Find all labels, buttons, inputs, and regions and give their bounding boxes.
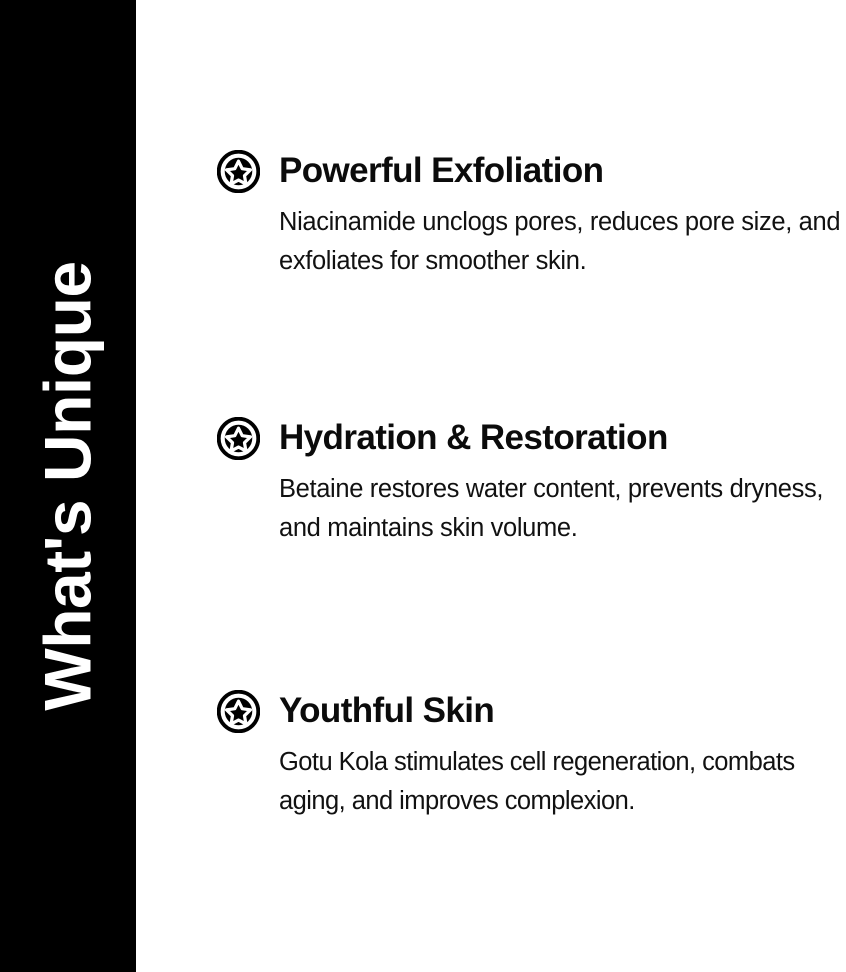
sidebar-vertical-title: What's Unique — [35, 261, 101, 710]
star-badge-icon — [217, 417, 260, 460]
feature-header: Powerful Exfoliation — [217, 150, 842, 193]
star-badge-icon — [217, 690, 260, 733]
star-badge-icon — [217, 150, 260, 193]
feature-title: Youthful Skin — [279, 693, 494, 730]
feature-title: Hydration & Restoration — [279, 420, 668, 457]
feature-description: Betaine restores water content, prevents… — [217, 470, 842, 548]
features-list: Powerful Exfoliation Niacinamide unclogs… — [136, 0, 846, 972]
feature-description: Niacinamide unclogs pores, reduces pore … — [217, 203, 842, 281]
sidebar-panel: What's Unique — [0, 0, 136, 972]
whats-unique-poster: What's Unique Powerful Exfoliation Niaci… — [0, 0, 846, 972]
sidebar-title-container: What's Unique — [0, 0, 136, 972]
feature-item: Hydration & Restoration Betaine restores… — [217, 417, 842, 548]
feature-header: Youthful Skin — [217, 690, 842, 733]
feature-item: Powerful Exfoliation Niacinamide unclogs… — [217, 150, 842, 281]
feature-title: Powerful Exfoliation — [279, 153, 603, 190]
feature-header: Hydration & Restoration — [217, 417, 842, 460]
feature-description: Gotu Kola stimulates cell regeneration, … — [217, 743, 842, 821]
feature-item: Youthful Skin Gotu Kola stimulates cell … — [217, 690, 842, 821]
